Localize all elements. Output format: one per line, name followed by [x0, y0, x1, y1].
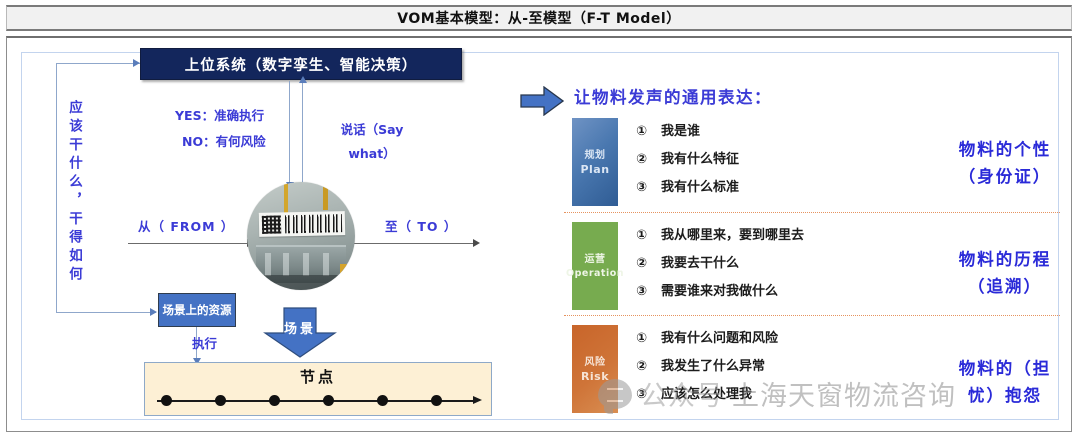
feedback-bottom-line [56, 312, 156, 313]
list-item: ③ 需要谁来对我做什么 [636, 278, 908, 306]
scene-arrow-label: 场景 [262, 318, 338, 337]
feedback-top-line [56, 63, 140, 64]
material-barcode-photo [247, 182, 355, 290]
execute-label: 执行 [192, 333, 217, 352]
operation-side-label-line1: 物料的历程 [900, 246, 1080, 273]
plan-side-label-line1: 物料的个性 [900, 136, 1080, 163]
plan-side-label: 物料的个性 （身份证） [900, 136, 1080, 190]
plan-item-list: ① 我是谁 ② 我有什么特征 ③ 我有什么标准 [636, 118, 886, 202]
node-dot [431, 395, 442, 406]
watermark: 公众号 上海天窗物流咨询 [598, 374, 956, 413]
ft-model-diagram: 上位系统（数字孪生、智能决策） 应该干什么，干得如何 YES：准确执行 NO：有… [0, 0, 520, 438]
say-up-line [302, 81, 303, 183]
item-text: 我要去干什么 [661, 250, 739, 278]
photo-accent-2 [323, 182, 328, 210]
operation-item-list: ① 我从哪里来，要到哪里去 ② 我要去干什么 ③ 需要谁来对我做什么 [636, 222, 908, 306]
say-up-arrowhead [299, 76, 307, 83]
item-text: 我从哪里来，要到哪里去 [661, 222, 804, 250]
slide-canvas: VOM基本模型：从-至模型（F-T Model） 上位系统（数字孪生、智能决策）… [0, 0, 1080, 438]
scene-down-arrow: 场景 [262, 307, 338, 359]
watermark-text-1: 公众号 [640, 374, 724, 413]
feedback-arrowhead-top [133, 59, 140, 67]
voice-row-plan: 规划 Plan ① 我是谁 ② 我有什么特征 ③ 我有什么标准 物料的个性 [564, 114, 1074, 210]
chip-operation-cn: 运营 [585, 253, 606, 267]
chip-plan-en: Plan [580, 163, 609, 176]
operation-side-label: 物料的历程 （追溯） [900, 246, 1080, 300]
item-number: ① [636, 325, 652, 353]
photo-barcode-label [259, 211, 346, 237]
feedback-vertical-label: 应该干什么，干得如何 [62, 100, 86, 285]
item-number: ② [636, 250, 652, 278]
list-item: ① 我是谁 [636, 118, 886, 146]
no-label: NO：有何风险 [182, 131, 266, 150]
node-dot [215, 395, 226, 406]
photo-accent-3 [340, 264, 347, 274]
from-to-axis-left [128, 243, 250, 244]
say-what-label: 说话（Say what） [336, 118, 408, 166]
item-number: ② [636, 146, 652, 174]
from-to-axis-right [352, 243, 476, 244]
chip-operation-en: Operation [566, 267, 624, 280]
qr-code-icon [261, 216, 280, 234]
list-item: ② 我有什么特征 [636, 146, 886, 174]
node-box-label: 节点 [145, 366, 491, 387]
item-text: 我有什么特征 [661, 146, 739, 174]
item-text: 需要谁来对我做什么 [661, 278, 778, 306]
command-down-line [289, 81, 290, 183]
upper-system-label: 上位系统（数字孪生、智能决策） [185, 54, 418, 75]
node-dot [161, 395, 172, 406]
photo-accent-1 [284, 182, 288, 214]
feedback-arrowhead-bottom [150, 308, 157, 316]
chip-operation[interactable]: 运营 Operation [572, 222, 618, 310]
operation-side-label-line2: （追溯） [900, 273, 1080, 300]
node-timeline [157, 400, 473, 402]
from-to-arrowhead-right [473, 239, 480, 247]
list-item: ① 我有什么问题和风险 [636, 325, 886, 353]
material-voice-panel: 让物料发声的通用表达： 规划 Plan ① 我是谁 ② 我有什么特征 ③ 我有什… [512, 72, 1072, 422]
chip-risk-cn: 风险 [585, 356, 606, 370]
plan-side-label-line2: （身份证） [900, 163, 1080, 190]
chip-plan-cn: 规划 [585, 149, 606, 163]
scene-resource-box[interactable]: 场景上的资源 [158, 293, 236, 327]
to-label: 至（ TO ） [385, 216, 457, 235]
item-number: ① [636, 118, 652, 146]
panel-heading: 让物料发声的通用表达： [574, 84, 772, 108]
node-dot [323, 395, 334, 406]
list-item: ③ 我有什么标准 [636, 174, 886, 202]
item-number: ① [636, 222, 652, 250]
item-number: ③ [636, 174, 652, 202]
barcode-icon [285, 214, 342, 233]
feedback-left-line [56, 63, 57, 313]
yes-label: YES：准确执行 [175, 105, 264, 124]
right-arrow-icon [520, 86, 564, 116]
item-text: 我有什么标准 [661, 174, 739, 202]
scene-resource-label: 场景上的资源 [163, 303, 232, 318]
row-separator-2 [564, 315, 1060, 316]
node-dot [269, 395, 280, 406]
item-number: ③ [636, 278, 652, 306]
row-separator-1 [564, 212, 1060, 213]
speech-bubble-icon [598, 379, 632, 409]
item-text: 我是谁 [661, 118, 700, 146]
photo-shadow [247, 275, 355, 290]
list-item: ① 我从哪里来，要到哪里去 [636, 222, 908, 250]
from-label: 从（ FROM ） [138, 216, 234, 235]
item-text: 我有什么问题和风险 [661, 325, 778, 353]
list-item: ② 我要去干什么 [636, 250, 908, 278]
voice-row-operation: 运营 Operation ① 我从哪里来，要到哪里去 ② 我要去干什么 ③ 需要… [564, 218, 1074, 314]
chip-plan[interactable]: 规划 Plan [572, 118, 618, 206]
node-dot [377, 395, 388, 406]
watermark-text-2: 上海天窗物流咨询 [732, 374, 956, 413]
node-box[interactable]: 节点 [144, 362, 492, 416]
